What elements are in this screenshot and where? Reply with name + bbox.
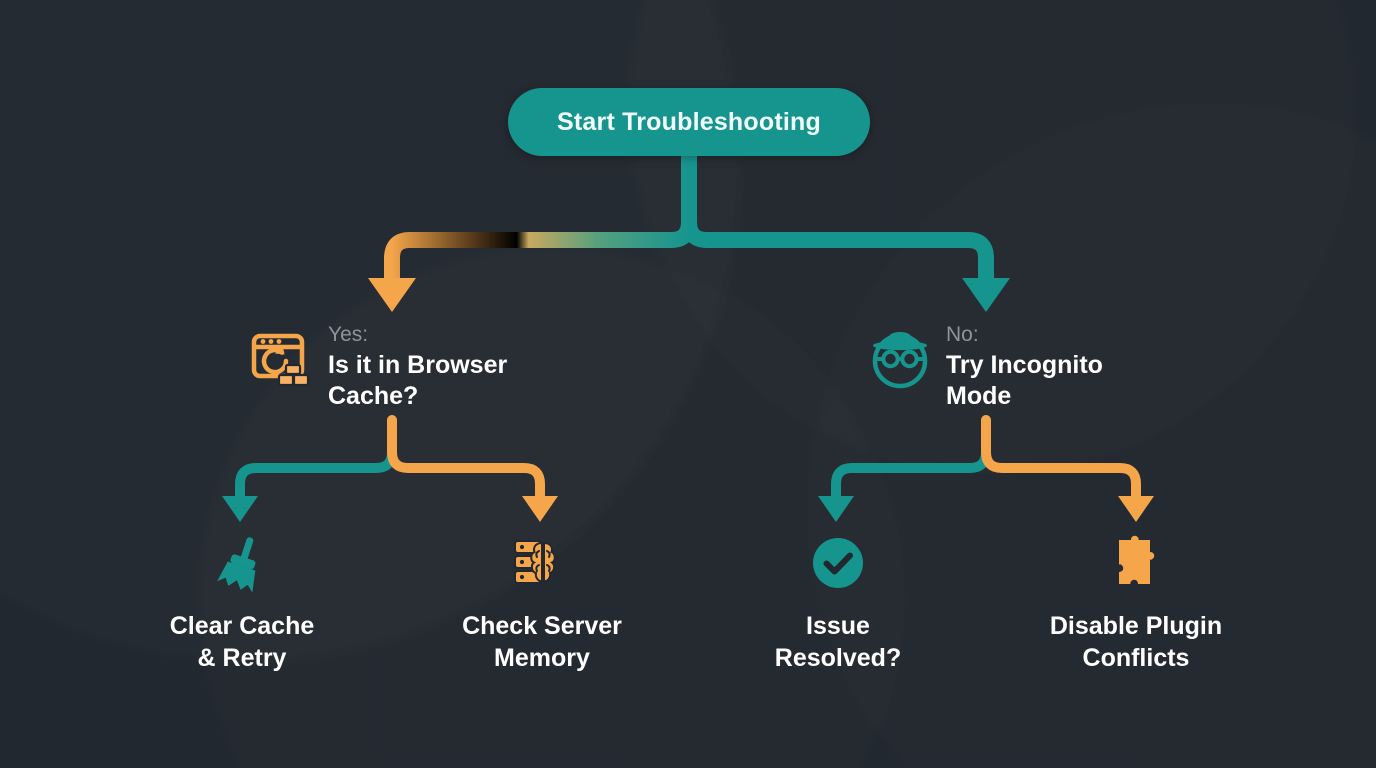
node-issue-resolved-label: Issue Resolved? [775, 610, 901, 674]
incognito-icon [868, 328, 932, 392]
node-disable-plugin-conflicts-label: Disable Plugin Conflicts [1050, 610, 1222, 674]
node-issue-resolved[interactable]: Issue Resolved? [713, 534, 963, 674]
arrow-head-no [962, 278, 1010, 312]
broom-icon [213, 534, 271, 592]
flowchart-canvas: Start Troubleshooting Yes: Is it in [0, 0, 1376, 768]
connector-incognito-split [818, 420, 1154, 522]
node-try-incognito-text: No: Try Incognito Mode [946, 320, 1161, 412]
node-try-incognito-label: Try Incognito Mode [946, 350, 1161, 412]
arrow-head-yes [368, 278, 416, 312]
node-browser-cache-text: Yes: Is it in Browser Cache? [328, 320, 543, 412]
node-browser-cache-kicker: Yes: [328, 320, 543, 350]
node-clear-cache[interactable]: Clear Cache & Retry [117, 534, 367, 674]
node-browser-cache[interactable]: Yes: Is it in Browser Cache? [250, 320, 543, 412]
arrow-head-check-server [522, 496, 558, 522]
arrow-head-clear-cache [222, 496, 258, 522]
node-try-incognito[interactable]: No: Try Incognito Mode [868, 320, 1161, 412]
node-start-troubleshooting[interactable]: Start Troubleshooting [508, 88, 870, 156]
node-check-server-memory-label: Check Server Memory [462, 610, 622, 674]
node-browser-cache-label: Is it in Browser Cache? [328, 350, 543, 412]
arrow-head-issue-resolved [818, 496, 854, 522]
check-circle-icon [809, 534, 867, 592]
root-node-label: Start Troubleshooting [557, 108, 821, 137]
arrow-head-disable-plugin [1118, 496, 1154, 522]
browser-cache-icon [250, 328, 314, 392]
server-brain-icon [513, 534, 571, 592]
node-try-incognito-kicker: No: [946, 320, 1161, 350]
node-clear-cache-label: Clear Cache & Retry [170, 610, 315, 674]
node-check-server-memory[interactable]: Check Server Memory [417, 534, 667, 674]
connector-browser-cache-split [222, 420, 558, 522]
puzzle-piece-icon [1107, 534, 1165, 592]
node-disable-plugin-conflicts[interactable]: Disable Plugin Conflicts [1011, 534, 1261, 674]
connector-root-split [368, 155, 1010, 312]
